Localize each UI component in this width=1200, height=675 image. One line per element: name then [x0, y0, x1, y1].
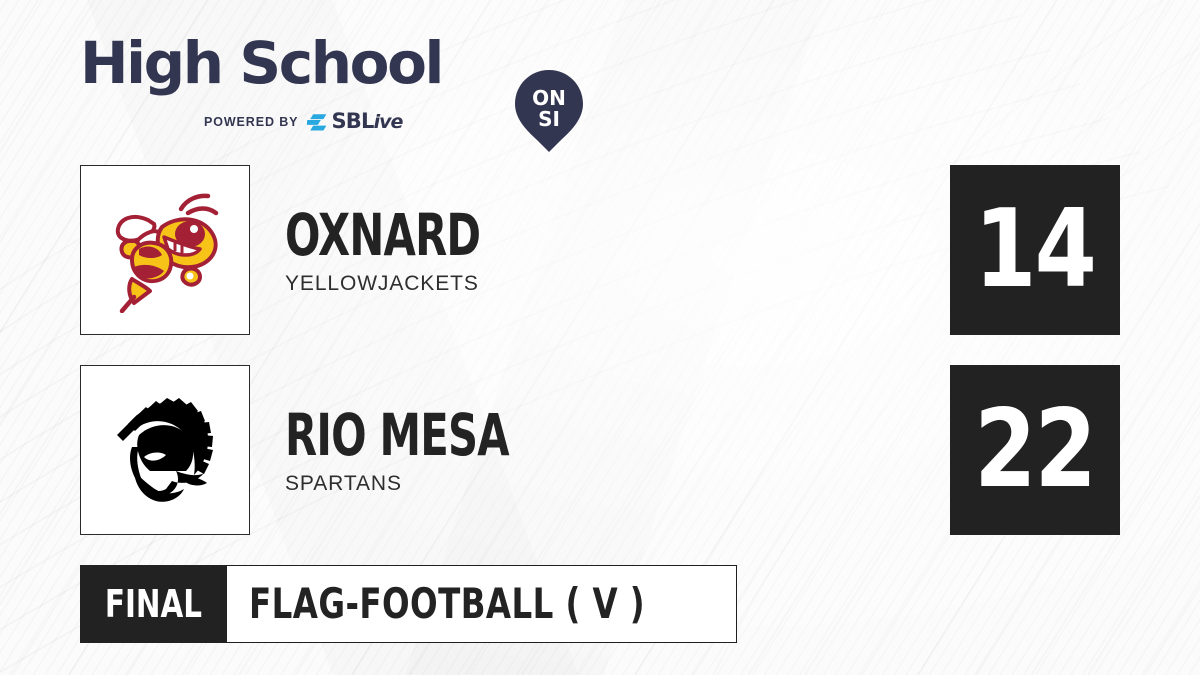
team-name: OXNARD: [285, 205, 480, 265]
sblive-word-sbl: SBL: [331, 109, 373, 133]
team-name: RIO MESA: [285, 405, 509, 465]
sblive-wordmark: SBLive: [331, 111, 402, 133]
brand-header: High School ON SI POWERED BY SBLive: [80, 34, 510, 136]
team-score-box: 14: [950, 165, 1120, 335]
team-row: RIO MESA SPARTANS 22: [0, 365, 1200, 535]
team-row: OXNARD YELLOWJACKETS 14: [0, 165, 1200, 335]
sblive-s-mark-icon: [307, 113, 327, 132]
game-state-badge: FINAL: [80, 565, 227, 643]
sport-label-box: FLAG-FOOTBALL ( V ): [227, 565, 737, 643]
scoreboard-graphic: High School ON SI POWERED BY SBLive: [0, 0, 1200, 675]
team-mascot: SPARTANS: [285, 472, 565, 496]
team-text-block: RIO MESA SPARTANS: [285, 365, 565, 535]
spartan-helmet-icon: [106, 391, 224, 509]
powered-by-row: POWERED BY SBLive: [204, 112, 402, 132]
on-si-pin-icon: ON SI: [513, 69, 585, 153]
brand-wordmark: High School: [80, 34, 510, 92]
team-score-box: 22: [950, 365, 1120, 535]
yellowjacket-mascot-icon: [102, 187, 228, 313]
team-text-block: OXNARD YELLOWJACKETS: [285, 165, 529, 335]
status-bar: FINAL FLAG-FOOTBALL ( V ): [80, 565, 737, 643]
team-mascot: YELLOWJACKETS: [285, 272, 529, 296]
sblive-logo: SBLive: [307, 111, 402, 133]
team-score: 14: [975, 196, 1096, 304]
sport-label: FLAG-FOOTBALL ( V ): [249, 583, 645, 625]
powered-by-label: POWERED BY: [204, 115, 298, 129]
game-state-label: FINAL: [105, 585, 202, 623]
team-logo-box: [80, 165, 250, 335]
sblive-word-ive: ive: [374, 111, 403, 133]
pin-label-si: SI: [538, 107, 560, 131]
team-logo-box: [80, 365, 250, 535]
team-score: 22: [975, 396, 1096, 504]
